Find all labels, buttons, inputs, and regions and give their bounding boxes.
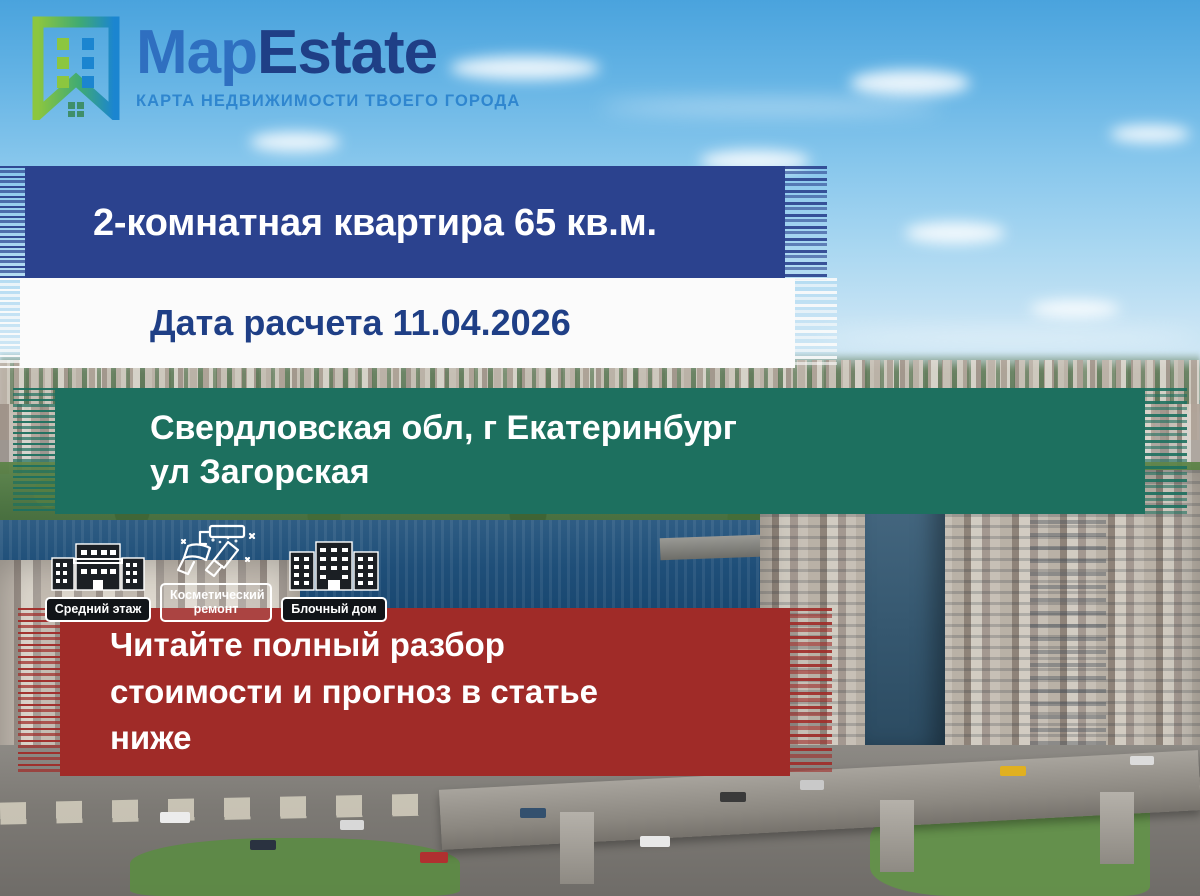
property-title-text: 2-комнатная квартира 65 кв.м. — [93, 199, 785, 248]
badge-floor[interactable]: Средний этаж — [45, 538, 151, 621]
calculation-date-banner: Дата расчета 11.04.2026 — [20, 278, 795, 368]
badge-renovation-label: Косметический ремонт — [160, 583, 272, 622]
property-title-banner: 2-комнатная квартира 65 кв.м. — [25, 166, 785, 280]
car-shape — [520, 808, 546, 818]
cta-line-3: ниже — [110, 715, 790, 762]
bridge-pier — [1100, 792, 1134, 864]
feature-badge-row: Средний этаж — [45, 524, 387, 622]
cloud-shape — [1110, 125, 1190, 143]
badge-floor-label: Средний этаж — [45, 597, 152, 621]
brand-wordmark: MapEstate — [136, 22, 520, 84]
car-shape — [420, 852, 448, 863]
brand-name-part1: Map — [136, 18, 257, 87]
address-line-2: ул Загорская — [150, 451, 1145, 495]
property-promo-poster: MapEstate КАРТА НЕДВИЖИМОСТИ ТВОЕГО ГОРО… — [0, 0, 1200, 896]
bridge-pier — [560, 812, 594, 884]
address-line-1: Свердловская обл, г Екатеринбург — [150, 407, 1145, 451]
car-shape — [640, 836, 670, 847]
car-shape — [250, 840, 276, 850]
cta-banner: Читайте полный разбор стоимости и прогно… — [60, 608, 790, 776]
brand-name-part2: Estate — [257, 18, 437, 87]
map-bookmark-building-icon — [30, 16, 122, 120]
badge-house-type[interactable]: Блочный дом — [281, 538, 387, 621]
mid-rise-building-icon — [48, 538, 148, 594]
badge-renovation[interactable]: Косметический ремонт — [163, 524, 269, 622]
cta-line-2: стоимости и прогноз в статье — [110, 669, 790, 716]
cloud-shape — [905, 222, 1005, 244]
car-shape — [340, 820, 364, 830]
cloud-shape — [250, 132, 340, 152]
cloud-shape — [850, 70, 970, 96]
calculation-date-text: Дата расчета 11.04.2026 — [150, 300, 795, 346]
brand-tagline: КАРТА НЕДВИЖИМОСТИ ТВОЕГО ГОРОДА — [136, 92, 520, 111]
car-shape — [160, 812, 190, 823]
paint-roller-brush-icon — [166, 524, 266, 580]
badge-house-type-label: Блочный дом — [281, 597, 386, 621]
car-shape — [800, 780, 824, 790]
bridge-pier — [880, 800, 914, 872]
car-shape — [720, 792, 746, 802]
cloud-wisp — [600, 100, 940, 114]
cloud-wisp — [820, 330, 1200, 344]
cta-line-1: Читайте полный разбор — [110, 622, 790, 669]
brand-logo[interactable]: MapEstate КАРТА НЕДВИЖИМОСТИ ТВОЕГО ГОРО… — [30, 16, 520, 120]
brand-wordmark-block: MapEstate КАРТА НЕДВИЖИМОСТИ ТВОЕГО ГОРО… — [136, 16, 520, 111]
cloud-shape — [1030, 300, 1120, 318]
car-shape — [1130, 756, 1154, 765]
car-shape — [1000, 766, 1026, 776]
address-banner: Свердловская обл, г Екатеринбург ул Заго… — [55, 388, 1145, 514]
grass-island-left — [130, 838, 460, 896]
panel-block-building-icon — [284, 538, 384, 594]
